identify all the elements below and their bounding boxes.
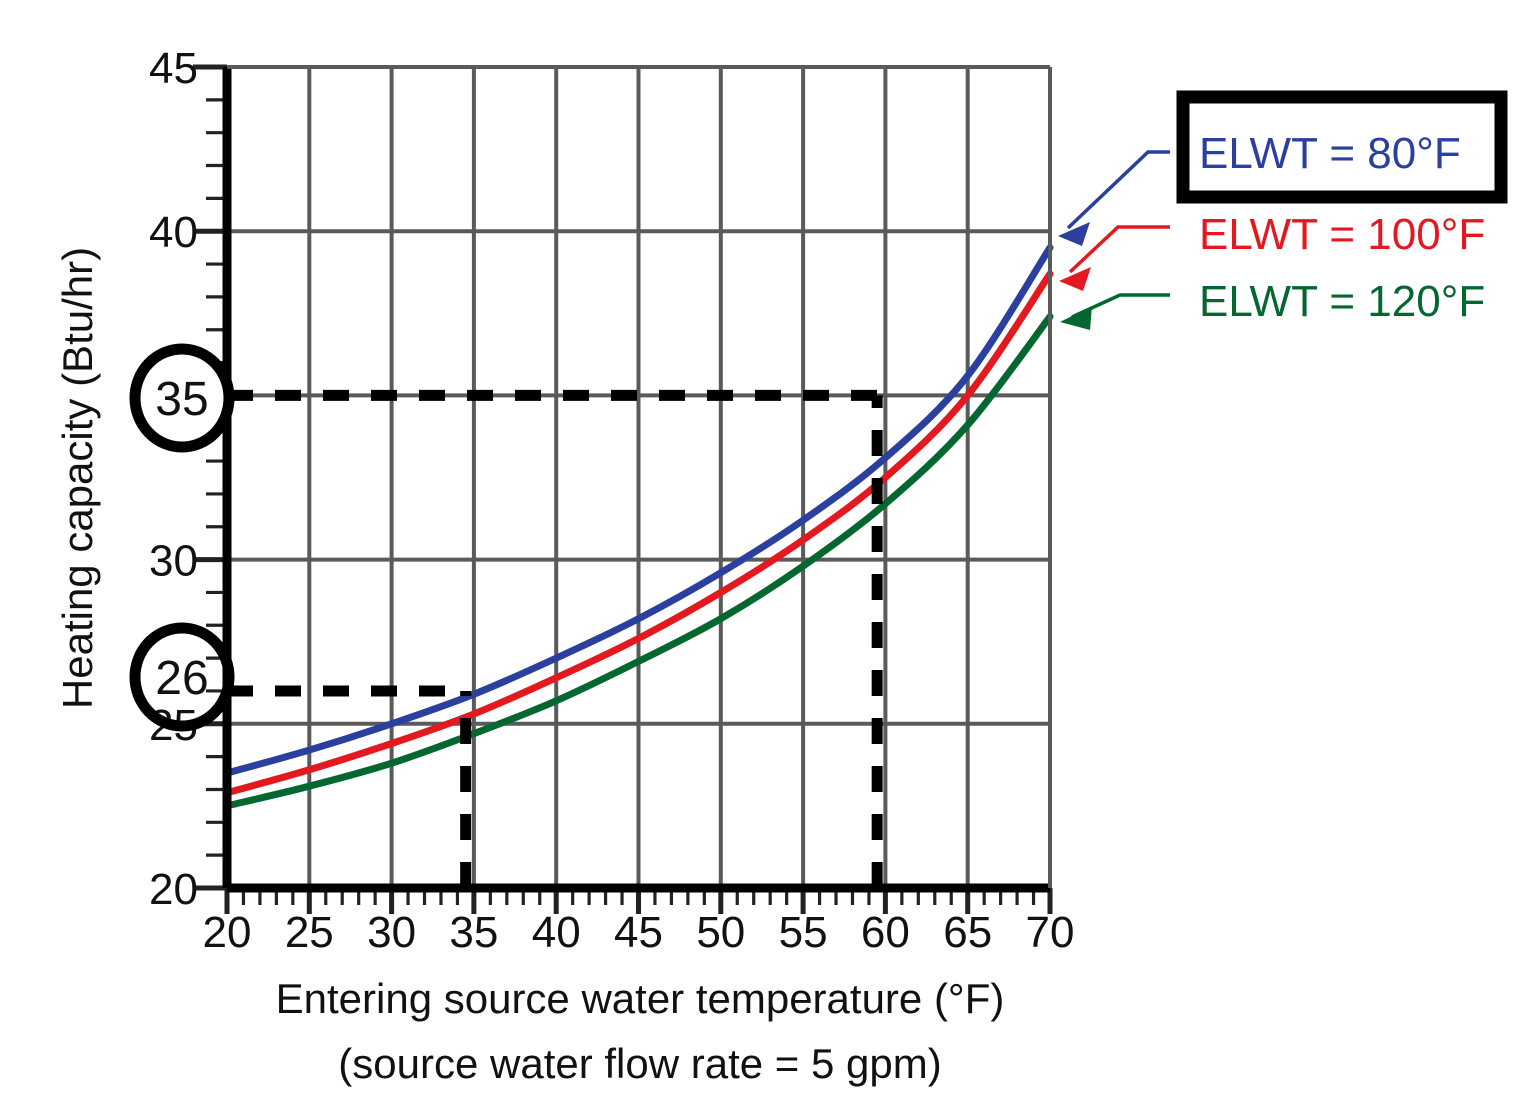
- x-tick-label-30: 30: [367, 908, 416, 957]
- legend-item-elwt-120[interactable]: ELWT = 120°F: [1199, 277, 1485, 326]
- y-tick-labels: 202530354045: [149, 44, 198, 914]
- x-tick-label-25: 25: [285, 908, 334, 957]
- callout-26-text: 26: [155, 652, 208, 705]
- x-tick-label-45: 45: [614, 908, 663, 957]
- x-tick-label-40: 40: [532, 908, 581, 957]
- chart-svg: 2025303540455055606570 202530354045 35 2…: [0, 0, 1536, 1112]
- x-tick-label-60: 60: [861, 908, 910, 957]
- y-tick-label-40: 40: [149, 208, 198, 257]
- legend-item-elwt-100[interactable]: ELWT = 100°F: [1199, 210, 1485, 259]
- y-tick-label-45: 45: [149, 44, 198, 93]
- x-tick-label-65: 65: [943, 908, 992, 957]
- y-tick-label-30: 30: [149, 537, 198, 586]
- y-axis-title: Heating capacity (Btu/hr): [54, 247, 101, 709]
- x-axis-title-line2: (source water flow rate = 5 gpm): [338, 1040, 941, 1087]
- callout-35-text: 35: [155, 373, 208, 426]
- legend-leader-120: [1060, 295, 1170, 330]
- chart-figure: 2025303540455055606570 202530354045 35 2…: [0, 0, 1536, 1112]
- callout-26: 26: [135, 628, 229, 726]
- x-tick-label-20: 20: [203, 908, 252, 957]
- y-tick-label-20: 20: [149, 865, 198, 914]
- x-tick-label-35: 35: [449, 908, 498, 957]
- x-axis-title-line1: Entering source water temperature (°F): [276, 975, 1005, 1022]
- x-tick-labels: 2025303540455055606570: [203, 908, 1075, 957]
- x-tick-label-55: 55: [779, 908, 828, 957]
- x-tick-label-50: 50: [696, 908, 745, 957]
- x-tick-label-70: 70: [1026, 908, 1075, 957]
- callout-35: 35: [135, 349, 229, 447]
- legend-item-elwt-80[interactable]: ELWT = 80°F: [1199, 129, 1461, 178]
